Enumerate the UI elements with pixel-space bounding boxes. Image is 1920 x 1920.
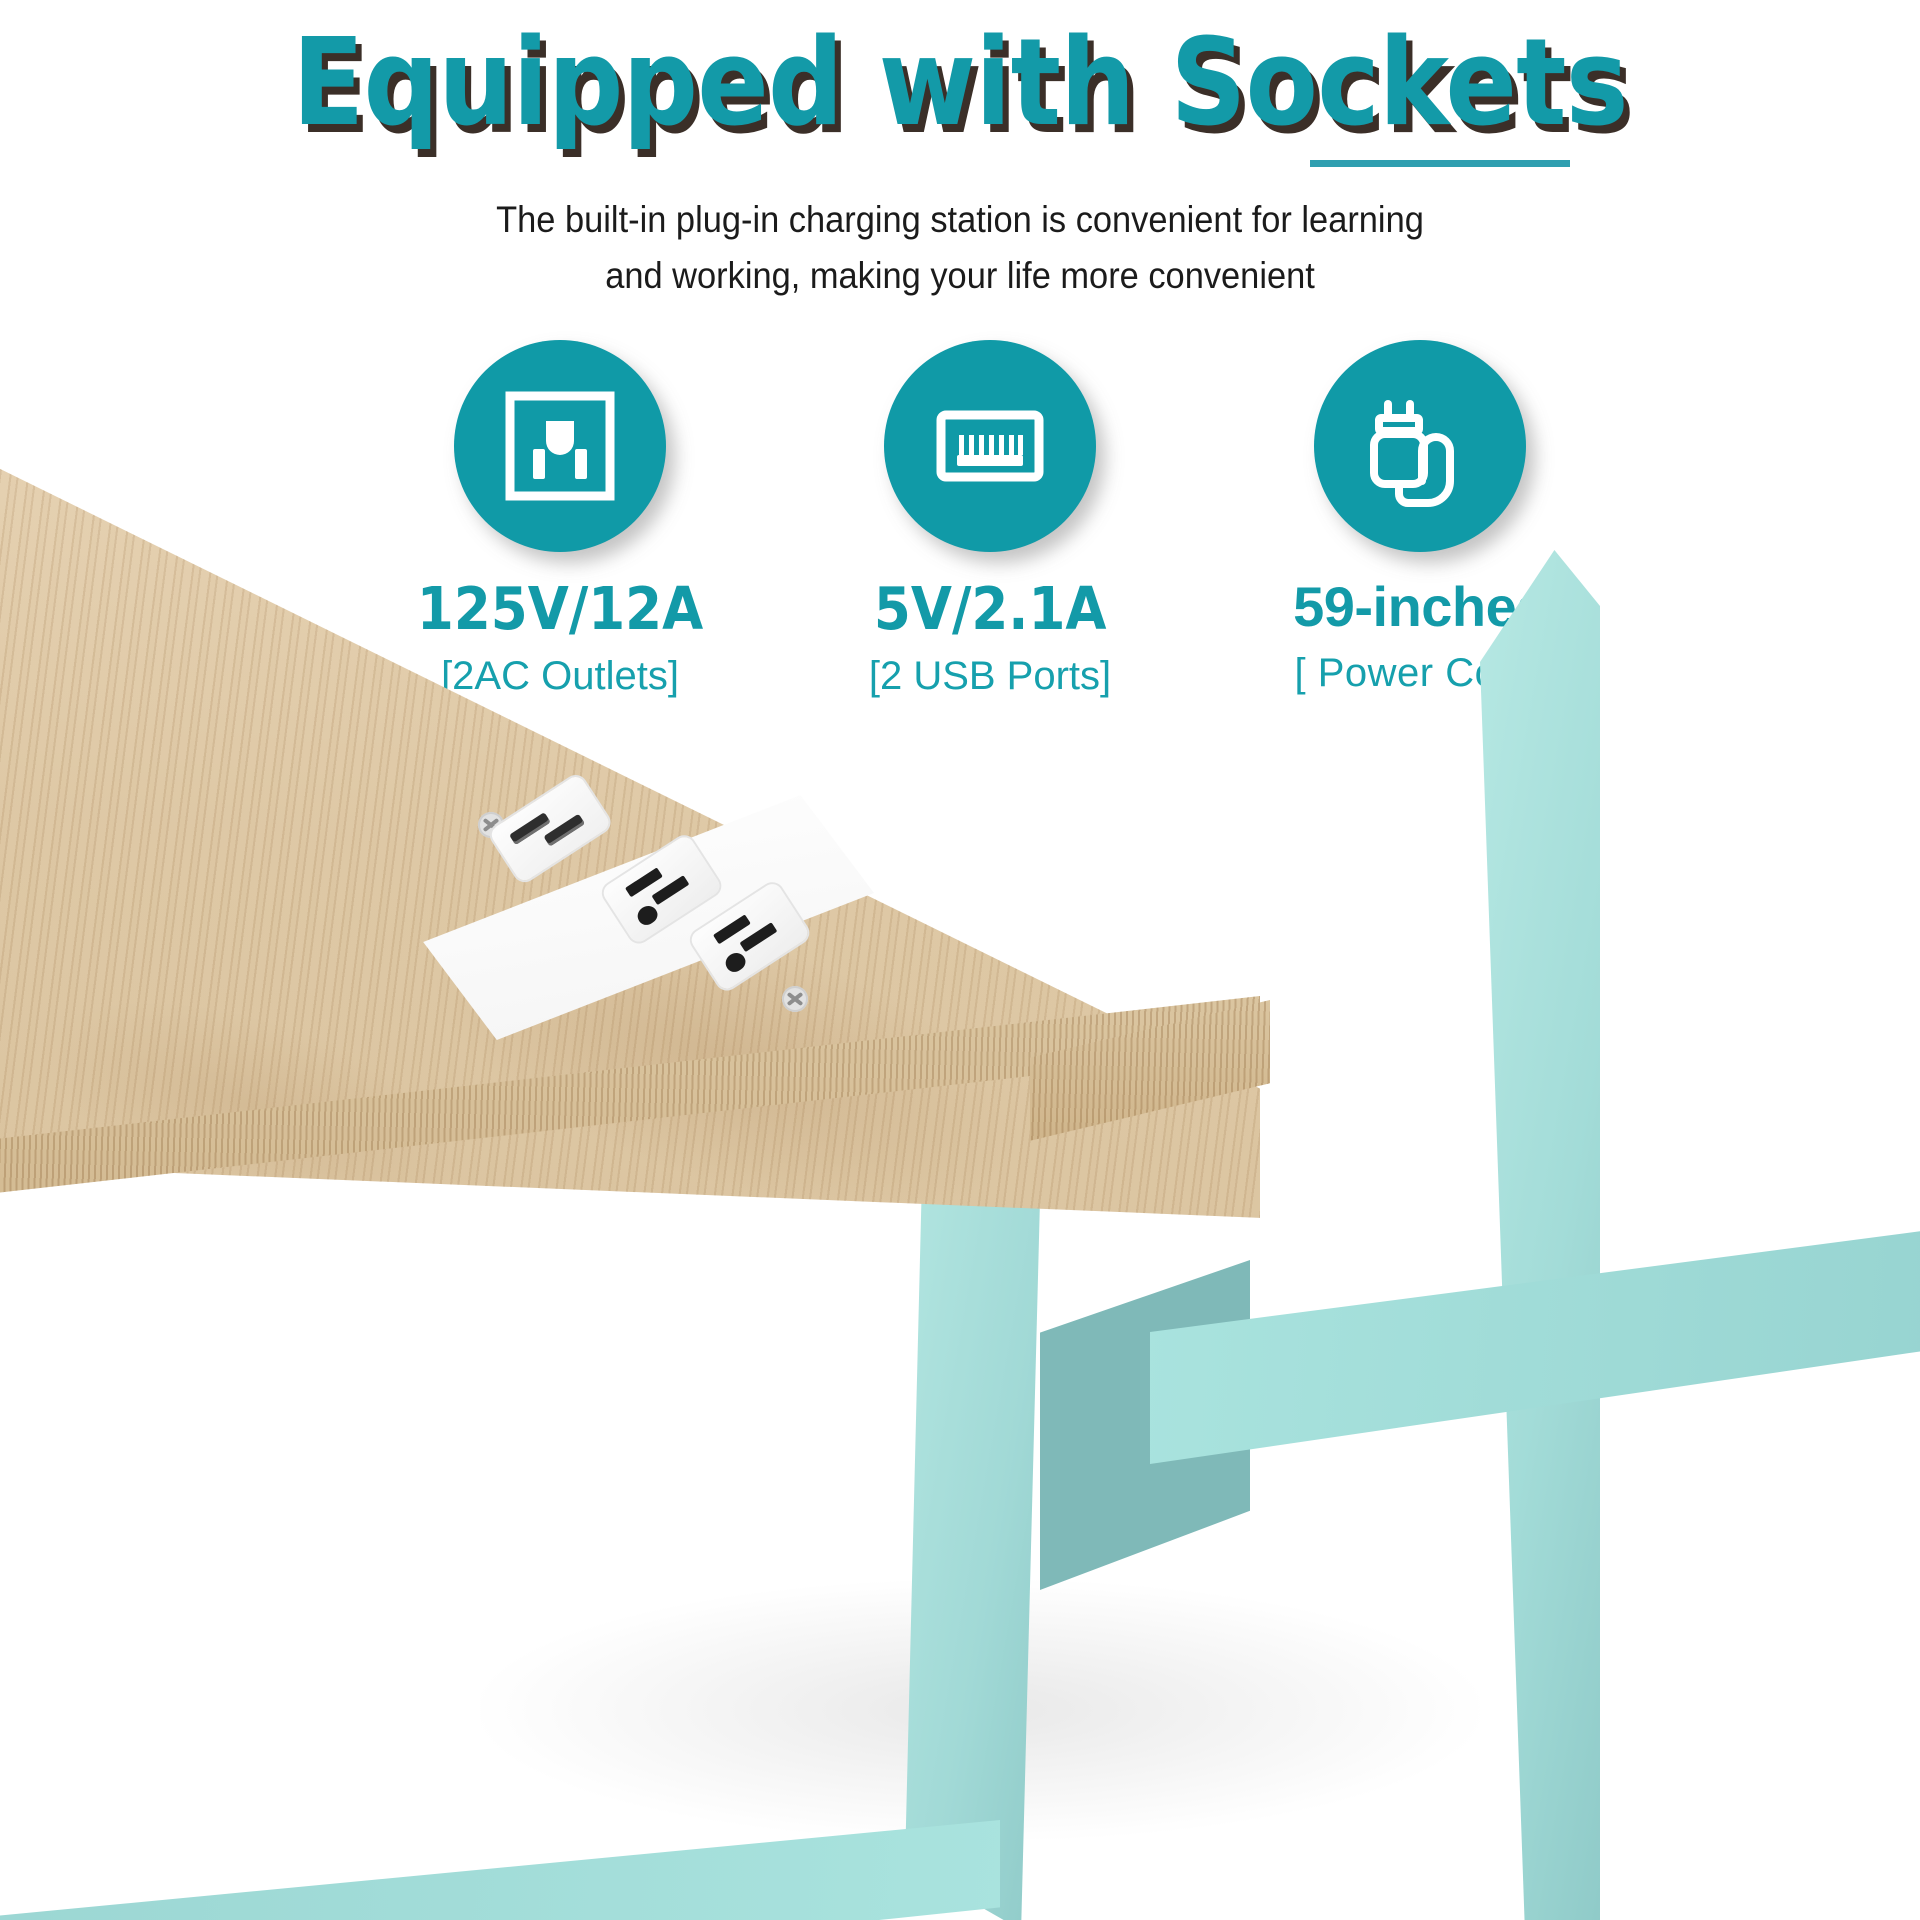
subtitle-line-2: and working, making your life more conve… bbox=[605, 255, 1315, 296]
ac-outlet-2-ground bbox=[722, 949, 749, 975]
product-feature-infographic: Equipped with Sockets The built-in plug-… bbox=[0, 0, 1920, 1920]
subtitle-line-1: The built-in plug-in charging station is… bbox=[496, 199, 1424, 240]
page-subtitle: The built-in plug-in charging station is… bbox=[495, 192, 1425, 304]
title-underline-accent bbox=[1310, 160, 1570, 167]
usb-port-2[interactable] bbox=[543, 814, 585, 847]
desk-frame-left-leg bbox=[905, 1100, 1040, 1920]
ac-outlet-1-ground bbox=[634, 902, 661, 928]
page-title: Equipped with Sockets bbox=[115, 24, 1805, 144]
panel-screw-bottom bbox=[782, 986, 808, 1012]
desk-frame-right-post bbox=[1480, 550, 1600, 1920]
product-photo bbox=[0, 400, 1920, 1920]
usb-port-1[interactable] bbox=[509, 812, 551, 845]
